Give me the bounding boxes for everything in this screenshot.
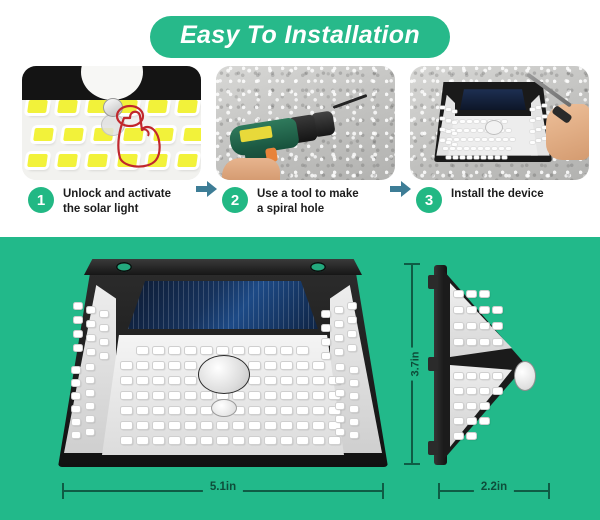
led [322, 311, 330, 317]
product-infographic: Easy To Installation [0, 0, 600, 520]
led [265, 392, 276, 399]
led [87, 349, 95, 355]
led [249, 377, 260, 384]
led [450, 147, 455, 150]
led [87, 321, 95, 327]
led [530, 108, 535, 111]
led [452, 110, 457, 113]
led [233, 437, 244, 444]
led [313, 362, 324, 369]
led [265, 377, 276, 384]
led [72, 380, 80, 386]
led [471, 129, 476, 132]
led [468, 138, 473, 141]
led [493, 323, 502, 329]
led [464, 129, 469, 132]
led [27, 154, 48, 167]
led [121, 407, 132, 414]
page-title: Easy To Installation [150, 16, 450, 58]
led [480, 307, 489, 313]
led [297, 437, 308, 444]
led [336, 364, 344, 370]
solar-panel [128, 281, 318, 329]
hand-press-icon [104, 102, 176, 172]
led [72, 406, 80, 412]
led [467, 433, 476, 439]
led [452, 121, 457, 124]
led [100, 325, 108, 331]
led [177, 100, 198, 113]
led [335, 307, 343, 313]
step-3-text: Install the device [451, 186, 544, 202]
led [480, 388, 489, 394]
led [265, 407, 276, 414]
led [492, 147, 497, 150]
led [467, 156, 472, 159]
led [265, 422, 276, 429]
led [467, 388, 476, 394]
led [480, 403, 489, 409]
led [169, 422, 180, 429]
led [446, 108, 451, 111]
led [454, 373, 463, 379]
led [169, 347, 180, 354]
height-tick-top [404, 263, 420, 265]
led [493, 388, 502, 394]
led [485, 147, 490, 150]
led [454, 138, 459, 141]
led [536, 128, 541, 131]
led [496, 138, 501, 141]
led [489, 138, 494, 141]
led [536, 106, 541, 109]
width-tick-right [382, 483, 384, 499]
led [467, 373, 476, 379]
led [350, 432, 358, 438]
led [335, 321, 343, 327]
led [542, 104, 547, 107]
led [87, 307, 95, 313]
led [460, 120, 465, 123]
step-3-photo [410, 66, 589, 180]
led [467, 418, 476, 424]
led [137, 377, 148, 384]
led [281, 362, 292, 369]
installation-steps-section: Easy To Installation [0, 0, 600, 237]
led [446, 119, 451, 122]
led [350, 419, 358, 425]
mount-hole-left [116, 262, 132, 272]
led [217, 422, 228, 429]
height-tick-bottom [404, 463, 420, 465]
led [185, 437, 196, 444]
led [121, 437, 132, 444]
led [217, 437, 228, 444]
led [454, 388, 463, 394]
led [153, 377, 164, 384]
height-label: 3.7in [407, 347, 425, 380]
led [475, 138, 480, 141]
mount-tab-mid [428, 357, 438, 371]
led [201, 392, 212, 399]
product-dimensions-section: 3.7in 5.1in 2.2in [0, 237, 600, 520]
led [350, 380, 358, 386]
led [467, 403, 476, 409]
led [169, 407, 180, 414]
led [348, 345, 356, 351]
led [503, 138, 508, 141]
led [233, 422, 244, 429]
led [86, 416, 94, 422]
led [121, 362, 132, 369]
led [27, 100, 48, 113]
led [313, 377, 324, 384]
led [169, 437, 180, 444]
led [454, 339, 463, 345]
solar-panel [460, 89, 526, 110]
led [153, 437, 164, 444]
depth-label: 2.2in [474, 481, 514, 493]
led [297, 347, 308, 354]
step-1-number: 1 [28, 187, 54, 213]
led [265, 347, 276, 354]
led [74, 331, 82, 337]
mount-tab-bottom [428, 441, 438, 455]
led [100, 311, 108, 317]
led [86, 403, 94, 409]
led [169, 392, 180, 399]
led [457, 147, 462, 150]
led [137, 407, 148, 414]
led [281, 437, 292, 444]
step-captions-row: 1 Unlock and activate the solar light 2 … [0, 186, 600, 230]
led [461, 138, 466, 141]
led [185, 362, 196, 369]
led-panel-closeup [22, 66, 201, 180]
width-label: 5.1in [203, 481, 243, 493]
led [488, 156, 493, 159]
led [185, 347, 196, 354]
led [322, 339, 330, 345]
led [153, 392, 164, 399]
led [87, 335, 95, 341]
led [335, 349, 343, 355]
led [530, 130, 535, 133]
width-tick-left [62, 483, 64, 499]
led [530, 119, 535, 122]
depth-tick-left [438, 483, 440, 499]
depth-dimension-line: 2.2in [438, 490, 550, 492]
led [454, 433, 463, 439]
led [169, 362, 180, 369]
led [471, 147, 476, 150]
led [474, 156, 479, 159]
led [467, 307, 476, 313]
led [536, 139, 541, 142]
led [281, 392, 292, 399]
led [177, 154, 198, 167]
led [265, 437, 276, 444]
led [348, 317, 356, 323]
led [249, 437, 260, 444]
mounted-solar-light [434, 82, 552, 162]
led [313, 392, 324, 399]
led [297, 392, 308, 399]
led [281, 347, 292, 354]
led [297, 407, 308, 414]
led [233, 347, 244, 354]
led [72, 432, 80, 438]
led [329, 422, 340, 429]
led [313, 437, 324, 444]
led [281, 407, 292, 414]
led [86, 390, 94, 396]
led [454, 323, 463, 329]
led [493, 373, 502, 379]
led [506, 147, 511, 150]
led [63, 128, 84, 141]
led [297, 422, 308, 429]
led [183, 128, 201, 141]
led [201, 422, 212, 429]
led [506, 129, 511, 132]
led [137, 422, 148, 429]
led [336, 429, 344, 435]
led [480, 323, 489, 329]
led [452, 132, 457, 135]
led [440, 139, 445, 142]
led [446, 141, 451, 144]
led [265, 362, 276, 369]
led [249, 407, 260, 414]
step-3-caption: 3 Install the device [416, 186, 544, 213]
led [329, 437, 340, 444]
led [313, 407, 324, 414]
led [74, 317, 82, 323]
led [502, 120, 507, 123]
step-photos-row [0, 66, 600, 181]
led [510, 138, 515, 141]
led [480, 373, 489, 379]
led [121, 392, 132, 399]
led [137, 362, 148, 369]
led [217, 347, 228, 354]
led [86, 429, 94, 435]
led [480, 339, 489, 345]
step-2-text: Use a tool to make a spiral hole [257, 186, 359, 217]
led [86, 364, 94, 370]
led [350, 367, 358, 373]
led [440, 106, 445, 109]
led [233, 392, 244, 399]
led [57, 100, 78, 113]
side-motion-sensor [514, 361, 536, 391]
step-2-photo [216, 66, 395, 180]
led [457, 129, 462, 132]
led [281, 422, 292, 429]
height-dimension-line: 3.7in [411, 263, 413, 465]
motion-sensor-dome [198, 355, 250, 394]
led [185, 407, 196, 414]
led [336, 416, 344, 422]
led [480, 291, 489, 297]
title-container: Easy To Installation [0, 16, 600, 58]
led [153, 362, 164, 369]
led [482, 138, 487, 141]
mount-hole-right [310, 262, 326, 272]
led [454, 307, 463, 313]
led [100, 353, 108, 359]
led [201, 437, 212, 444]
led [335, 335, 343, 341]
led [185, 377, 196, 384]
led [467, 291, 476, 297]
led [480, 418, 489, 424]
led [499, 147, 504, 150]
step-1-text: Unlock and activate the solar light [63, 186, 171, 217]
led [313, 422, 324, 429]
led [467, 323, 476, 329]
step-2-number: 2 [222, 187, 248, 213]
led [137, 392, 148, 399]
led [153, 407, 164, 414]
led [322, 325, 330, 331]
led [74, 303, 82, 309]
led [348, 303, 356, 309]
led [350, 393, 358, 399]
led [467, 339, 476, 345]
led [464, 147, 469, 150]
hand-holding-drill [222, 158, 280, 180]
led [281, 377, 292, 384]
led [137, 347, 148, 354]
led [336, 390, 344, 396]
led [322, 353, 330, 359]
led [169, 377, 180, 384]
led [446, 130, 451, 133]
step-3-number: 3 [416, 187, 442, 213]
led [336, 403, 344, 409]
led [72, 393, 80, 399]
led [453, 156, 458, 159]
led [454, 418, 463, 424]
width-dimension-line: 5.1in [62, 490, 384, 492]
led [467, 120, 472, 123]
led [100, 339, 108, 345]
led [454, 291, 463, 297]
led [201, 347, 212, 354]
led [495, 156, 500, 159]
mount-bracket [22, 66, 201, 100]
led [185, 422, 196, 429]
led [336, 377, 344, 383]
step-2-caption: 2 Use a tool to make a spiral hole [222, 186, 359, 217]
led [481, 120, 486, 123]
light-sensor [211, 399, 237, 417]
led [121, 422, 132, 429]
led [446, 156, 451, 159]
solar-light-side-view [428, 265, 548, 465]
led [249, 362, 260, 369]
solar-light-front-view [58, 259, 388, 474]
led [536, 117, 541, 120]
led [502, 156, 507, 159]
led [478, 147, 483, 150]
step-1-photo [22, 66, 201, 180]
led [249, 392, 260, 399]
bracket-notch [81, 66, 143, 100]
led [185, 392, 196, 399]
led [474, 120, 479, 123]
led [493, 307, 502, 313]
led [121, 377, 132, 384]
led [57, 154, 78, 167]
led [452, 143, 457, 146]
led [33, 128, 54, 141]
led [440, 128, 445, 131]
led [72, 367, 80, 373]
led [249, 347, 260, 354]
led [350, 406, 358, 412]
led [530, 141, 535, 144]
led [493, 339, 502, 345]
led [86, 377, 94, 383]
led [454, 403, 463, 409]
led [440, 117, 445, 120]
step-1-caption: 1 Unlock and activate the solar light [28, 186, 171, 217]
led [153, 347, 164, 354]
led [74, 345, 82, 351]
mount-tab-top [428, 275, 438, 289]
led [72, 419, 80, 425]
depth-tick-right [548, 483, 550, 499]
led [478, 129, 483, 132]
led [297, 362, 308, 369]
led [460, 156, 465, 159]
led [481, 156, 486, 159]
led [348, 331, 356, 337]
led [137, 437, 148, 444]
led [443, 147, 448, 150]
led [297, 377, 308, 384]
led [249, 422, 260, 429]
led [153, 422, 164, 429]
